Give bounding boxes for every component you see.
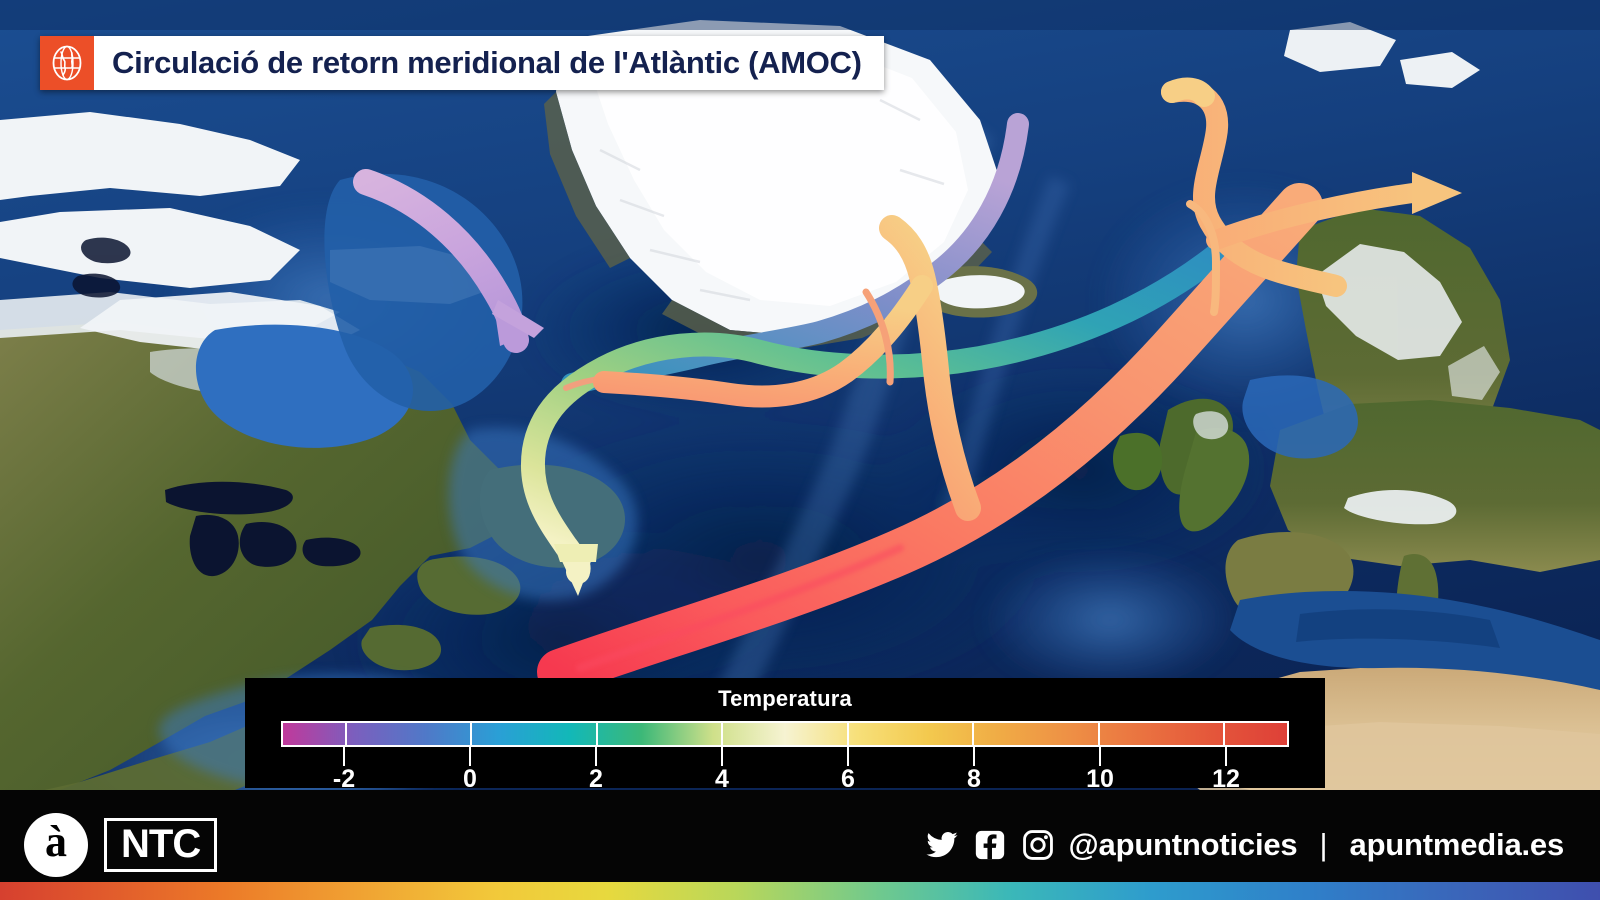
colorbar bbox=[281, 721, 1289, 747]
facebook-icon[interactable] bbox=[973, 828, 1007, 862]
colorbar-divider bbox=[1098, 723, 1100, 745]
rainbow-strip bbox=[0, 882, 1600, 900]
colorbar-divider bbox=[972, 723, 974, 745]
colorbar-divider bbox=[1223, 723, 1225, 745]
colorbar-divider bbox=[470, 723, 472, 745]
colorbar-tick bbox=[343, 747, 345, 766]
colorbar-divider bbox=[721, 723, 723, 745]
colorbar-tick bbox=[973, 747, 975, 766]
footer-separator: | bbox=[1311, 827, 1335, 863]
social-handle[interactable]: @apuntnoticies bbox=[1069, 827, 1298, 863]
colorbar-tick bbox=[847, 747, 849, 766]
colorbar-gradient bbox=[283, 723, 1287, 745]
temperature-legend: Temperatura -2024681012 bbox=[245, 678, 1325, 788]
colorbar-divider bbox=[596, 723, 598, 745]
colorbar-divider bbox=[345, 723, 347, 745]
colorbar-tick-label: 4 bbox=[715, 767, 729, 792]
colorbar-tick-label: 8 bbox=[967, 767, 981, 792]
footer-logos: à NTC bbox=[0, 813, 217, 877]
amoc-infographic: Circulació de retorn meridional de l'Atl… bbox=[0, 0, 1600, 900]
colorbar-tick bbox=[1225, 747, 1227, 766]
website-url[interactable]: apuntmedia.es bbox=[1350, 827, 1564, 863]
legend-title: Temperatura bbox=[245, 686, 1325, 712]
colorbar-wrapper: -2024681012 bbox=[281, 721, 1289, 747]
page-title: Circulació de retorn meridional de l'Atl… bbox=[112, 45, 862, 81]
colorbar-tick bbox=[1099, 747, 1101, 766]
colorbar-tick bbox=[469, 747, 471, 766]
colorbar-tick-label: 12 bbox=[1212, 767, 1240, 792]
colorbar-tick bbox=[721, 747, 723, 766]
colorbar-tick-label: -2 bbox=[333, 767, 355, 792]
twitter-icon[interactable] bbox=[925, 828, 959, 862]
title-text-container: Circulació de retorn meridional de l'Atl… bbox=[94, 36, 884, 90]
colorbar-tick-label: 6 bbox=[841, 767, 855, 792]
ntc-logo: NTC bbox=[104, 818, 217, 872]
globe-icon bbox=[40, 36, 94, 90]
instagram-icon[interactable] bbox=[1021, 828, 1055, 862]
colorbar-tick-label: 10 bbox=[1086, 767, 1114, 792]
footer-social: @apuntnoticies | apuntmedia.es bbox=[925, 827, 1600, 863]
colorbar-tick bbox=[595, 747, 597, 766]
colorbar-tick-label: 0 bbox=[463, 767, 477, 792]
colorbar-divider bbox=[847, 723, 849, 745]
colorbar-tick-label: 2 bbox=[589, 767, 603, 792]
title-bar: Circulació de retorn meridional de l'Atl… bbox=[40, 36, 884, 90]
apunt-logo: à bbox=[24, 813, 88, 877]
